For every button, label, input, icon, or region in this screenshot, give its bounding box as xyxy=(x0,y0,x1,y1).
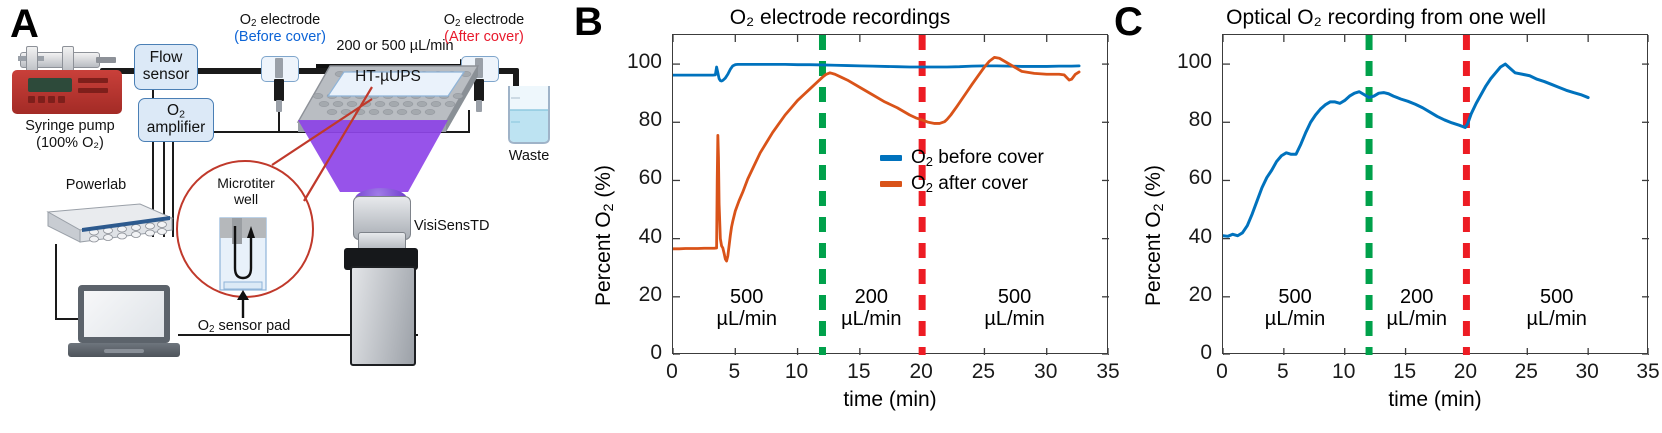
panel-b-xlabel: time (min) xyxy=(672,388,1108,412)
ytick-label: 80 xyxy=(1160,108,1212,132)
xtick-label: 15 xyxy=(834,360,884,384)
panel-c-plot: C Optical O₂ recording from one well Per… xyxy=(1110,0,1662,433)
syringe-pump-label-line2: (100% O₂) xyxy=(0,135,140,152)
flow-rate-unit: µL/min xyxy=(1245,308,1345,330)
xtick-label: 15 xyxy=(1380,360,1430,384)
syringe-pump-label-line1: Syringe pump xyxy=(0,118,140,135)
powerlab-device xyxy=(42,198,178,248)
xtick-label: 10 xyxy=(1319,360,1369,384)
pump-button-2 xyxy=(38,96,45,103)
plate-label: HT-µUPS xyxy=(332,68,444,86)
ytick-label: 20 xyxy=(1160,283,1212,307)
flow-rate-unit: µL/min xyxy=(697,308,797,330)
o2-sensor-pad-label: O2 sensor pad xyxy=(178,318,310,335)
legend-label-before-cover: O2 before cover xyxy=(911,147,1044,169)
xtick-label: 25 xyxy=(958,360,1008,384)
panel-a-schematic: A Sy xyxy=(0,0,570,433)
xtick-label: 20 xyxy=(896,360,946,384)
ytick-label: 60 xyxy=(1160,166,1212,190)
flow-rate-value: 200 xyxy=(821,286,921,308)
legend-item-after-cover: O2 after cover xyxy=(880,173,1044,195)
flow-rate-annotation: 500µL/min xyxy=(1245,286,1345,331)
pump-button-4 xyxy=(58,96,65,103)
xtick-label: 25 xyxy=(1501,360,1551,384)
electrode-after-line2: (After cover) xyxy=(400,29,568,46)
series-line-0 xyxy=(673,64,1079,81)
flow-rate-annotation: 200µL/min xyxy=(821,286,921,331)
laptop-trackpad xyxy=(104,349,144,353)
waste-label: Waste xyxy=(496,148,562,165)
panel-b-legend: O2 before cover O2 after cover xyxy=(880,147,1044,199)
ytick-label: 100 xyxy=(610,50,662,74)
microtiter-well-line2: well xyxy=(210,191,282,207)
syringe-pump-display xyxy=(28,78,72,92)
panel-b-plot: B O₂ electrode recordings Percent O2 (%)… xyxy=(570,0,1110,433)
microtiter-well-diagram xyxy=(206,216,284,298)
xtick-label: 0 xyxy=(647,360,697,384)
panel-c-xlabel: time (min) xyxy=(1222,388,1648,412)
flow-rate-unit: µL/min xyxy=(1507,308,1607,330)
electrode-after-label: O2 electrode (After cover) xyxy=(400,12,568,46)
pump-button-1 xyxy=(28,96,35,103)
xtick-label: 5 xyxy=(709,360,759,384)
flow-rate-unit: µL/min xyxy=(821,308,921,330)
ytick-label: 40 xyxy=(610,225,662,249)
flow-rate-value: 500 xyxy=(1507,286,1607,308)
flow-sensor-label-line2: sensor xyxy=(143,67,190,84)
electrode-after-line1: O2 electrode xyxy=(400,12,568,29)
laptop-screen xyxy=(78,285,170,343)
ytick-label: 60 xyxy=(610,166,662,190)
flow-rate-unit: µL/min xyxy=(1367,308,1467,330)
pump-button-3 xyxy=(48,96,55,103)
flow-rate-unit: µL/min xyxy=(965,308,1065,330)
xtick-label: 20 xyxy=(1440,360,1490,384)
flow-rate-annotation: 200µL/min xyxy=(1367,286,1467,331)
ytick-label: 20 xyxy=(610,283,662,307)
panel-c-title: Optical O₂ recording from one well xyxy=(1110,6,1662,30)
sensor-pad-arrow xyxy=(228,290,258,320)
figure-root: A Sy xyxy=(0,0,1662,433)
powerlab-label: Powerlab xyxy=(40,177,152,194)
camera-body xyxy=(350,266,416,366)
pump-strip-2 xyxy=(78,88,108,93)
xtick-label: 0 xyxy=(1197,360,1247,384)
xtick-label: 5 xyxy=(1258,360,1308,384)
wire-powerlab-laptop xyxy=(55,244,57,320)
syringe-tip xyxy=(96,57,116,63)
electrode-before-line1: O2 electrode xyxy=(196,12,364,29)
flow-rate-value: 500 xyxy=(1245,286,1345,308)
microtiter-well-line1: Microtiter xyxy=(210,175,282,191)
flow-sensor-box: Flow sensor xyxy=(134,44,198,90)
ytick-label: 40 xyxy=(1160,225,1212,249)
flow-rate-annotation: 500µL/min xyxy=(697,286,797,331)
flow-rate-value: 200 xyxy=(1367,286,1467,308)
legend-item-before-cover: O2 before cover xyxy=(880,147,1044,169)
electrode-before-pin xyxy=(275,58,283,78)
xtick-label: 30 xyxy=(1562,360,1612,384)
panel-a-letter: A xyxy=(10,4,39,44)
flow-sensor-label-line1: Flow xyxy=(150,50,183,67)
legend-swatch-before-cover xyxy=(880,155,902,161)
series-line-0 xyxy=(1223,64,1588,236)
waste-beaker xyxy=(504,84,554,146)
legend-swatch-after-cover xyxy=(880,181,902,187)
flow-rate-value: 500 xyxy=(965,286,1065,308)
flow-rate-annotation: 500µL/min xyxy=(1507,286,1607,331)
xtick-label: 30 xyxy=(1021,360,1071,384)
xtick-label: 10 xyxy=(772,360,822,384)
ytick-label: 100 xyxy=(1160,50,1212,74)
pump-strip-1 xyxy=(78,78,108,83)
microtiter-well-label: Microtiter well xyxy=(210,175,282,207)
syringe-pump-label: Syringe pump (100% O₂) xyxy=(0,118,140,151)
flow-rate-annotation: 500µL/min xyxy=(965,286,1065,331)
flow-rate-value: 500 xyxy=(697,286,797,308)
legend-label-after-cover: O2 after cover xyxy=(911,173,1028,195)
panel-b-title: O₂ electrode recordings xyxy=(570,6,1110,30)
visisens-label: VisiSensTD xyxy=(414,218,514,235)
ytick-label: 80 xyxy=(610,108,662,132)
xtick-label: 35 xyxy=(1623,360,1662,384)
